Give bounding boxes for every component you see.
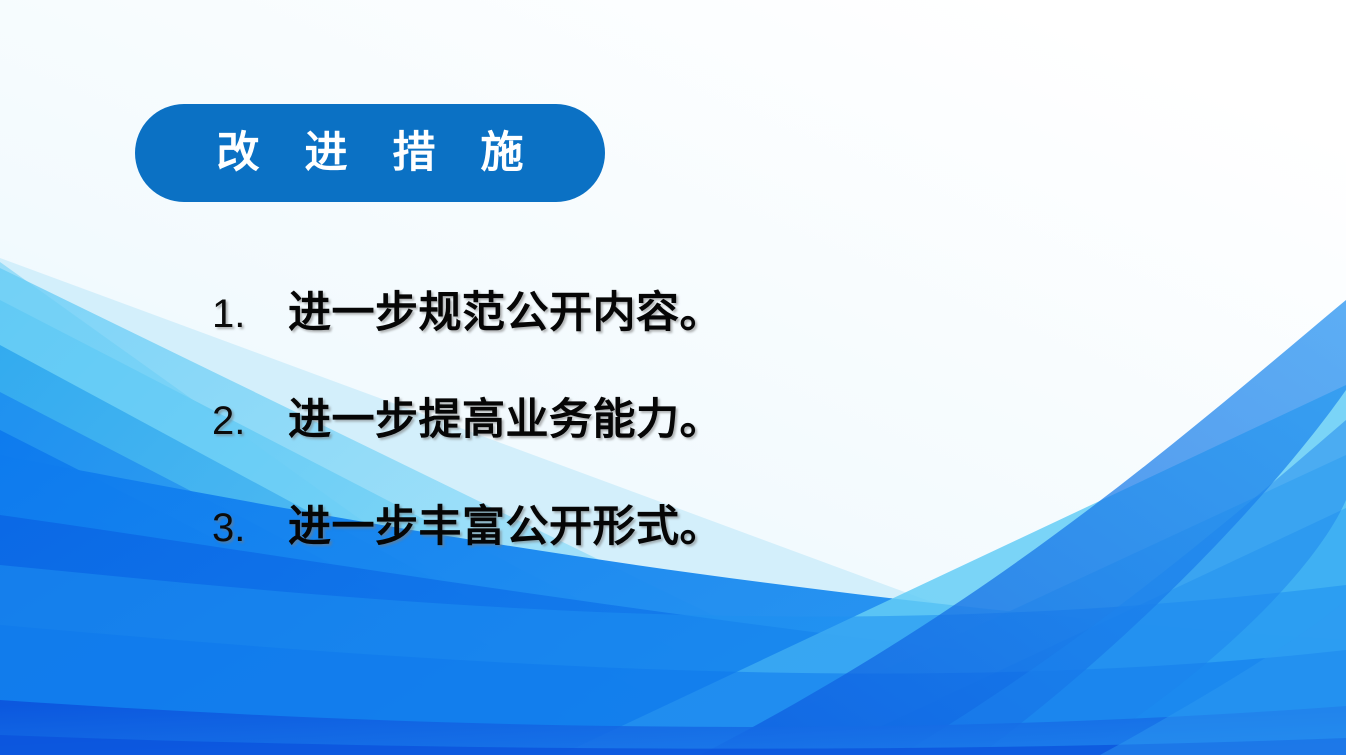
list-item-number: 3. <box>212 506 288 551</box>
list-item-number: 2. <box>212 399 288 444</box>
list-item: 3. 进一步丰富公开形式。 <box>212 492 1112 599</box>
title-pill: 改 进 措 施 <box>135 104 605 202</box>
list-item: 2. 进一步提高业务能力。 <box>212 385 1112 492</box>
numbered-list: 1. 进一步规范公开内容。 2. 进一步提高业务能力。 3. 进一步丰富公开形式… <box>212 278 1112 599</box>
slide: 改 进 措 施 1. 进一步规范公开内容。 2. 进一步提高业务能力。 3. 进… <box>0 0 1346 755</box>
list-item: 1. 进一步规范公开内容。 <box>212 278 1112 385</box>
list-item-text: 进一步规范公开内容。 <box>288 278 723 340</box>
list-item-text: 进一步丰富公开形式。 <box>288 492 723 554</box>
page-title: 改 进 措 施 <box>202 132 539 175</box>
list-item-number: 1. <box>212 292 288 337</box>
list-item-text: 进一步提高业务能力。 <box>288 385 723 447</box>
